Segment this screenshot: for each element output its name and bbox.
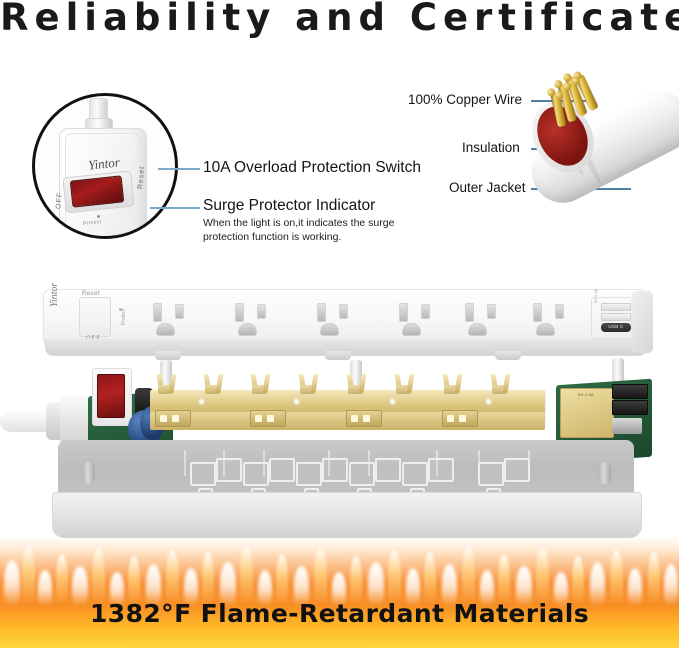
outlet-cavity: [375, 458, 401, 482]
transformer-label: 5V 2.4A: [562, 392, 610, 397]
clip-center: [492, 385, 507, 394]
outlet-cavity: [478, 462, 504, 486]
callout-overload-switch-label: 10A Overload Protection Switch: [203, 159, 421, 177]
terminal-opening: [363, 415, 370, 422]
outlet-cavity: [269, 458, 295, 482]
flame-tip: [536, 548, 549, 606]
busbar-contact-clip: [205, 374, 222, 394]
ac-outlet: [523, 303, 589, 337]
terminal-opening: [160, 415, 167, 422]
flame-tips-group: [0, 536, 679, 606]
outlet-ground-pin: [468, 323, 487, 336]
overload-switch-magnified: [70, 175, 125, 207]
usb-a-connector-internal: [612, 400, 648, 415]
leader-line-overload: [158, 168, 200, 170]
flame-banner-text: 1382°F Flame-Retardant Materials: [0, 599, 679, 628]
outlet-ground-pin: [536, 323, 555, 336]
busbar-contact-clip: [444, 374, 461, 394]
flame-tip: [610, 550, 623, 606]
clip-center: [396, 385, 411, 394]
ac-outlet: [225, 303, 291, 337]
flame-tip: [22, 546, 35, 606]
usb-rate-label: 5V 2.4A: [593, 289, 598, 303]
flame-banner: 1382°F Flame-Retardant Materials: [0, 536, 679, 648]
terminal-opening: [351, 415, 358, 422]
usb-a-port: [601, 313, 631, 321]
outlet-slot-right: [257, 304, 266, 319]
ac-outlet: [389, 303, 455, 337]
overload-switch-internal: [97, 374, 125, 418]
protect-indicator-led-magnified: [97, 215, 100, 218]
terminal-opening: [447, 415, 454, 422]
outlet-slot-left: [533, 303, 542, 322]
usb-a-port: [601, 303, 631, 311]
terminal-opening: [459, 415, 466, 422]
outlet-cavity: [190, 462, 216, 486]
busbar-contact-clip: [348, 374, 365, 394]
outlet-ground-pin: [156, 323, 175, 336]
busbar-contact-clip: [492, 374, 509, 394]
busbar-rivet-hole: [485, 398, 492, 405]
leader-line-surge: [150, 207, 200, 209]
ac-outlet: [307, 303, 373, 337]
strip-brand-logo: Yintor: [49, 283, 60, 307]
callout-surge-indicator-description: When the light is on,it indicates the su…: [203, 216, 413, 244]
strip-foot: [325, 351, 351, 360]
outlet-slot-left: [465, 303, 474, 322]
outlet-ground-pin: [238, 323, 257, 336]
outlet-cavity: [243, 462, 269, 486]
usb-c-connector-internal: [612, 418, 642, 434]
terminal-opening: [255, 415, 262, 422]
strip-foot: [155, 351, 181, 360]
clip-center: [205, 385, 220, 394]
flame-tip: [424, 552, 436, 606]
strip-protect-label: Protect: [121, 309, 127, 325]
screw-boss: [82, 462, 95, 484]
infographic-page: Reliability and Certificate Yintor OFF R…: [0, 0, 679, 648]
busbar-contact-clip: [252, 374, 269, 394]
usb-c-label: USB C: [603, 324, 629, 329]
cord-connector: [60, 396, 90, 444]
magnifier-content: Yintor OFF Reset Protect: [35, 96, 175, 236]
outlet-ground-pin: [320, 323, 339, 336]
terminal-opening: [172, 415, 179, 422]
busbar-terminal-block: [250, 410, 286, 427]
flame-tip: [240, 546, 253, 606]
housing-front-face: [52, 492, 642, 538]
flame-tip: [314, 548, 327, 606]
outlet-cavity: [296, 462, 322, 486]
flame-tip: [388, 550, 401, 606]
outlet-cavity: [428, 458, 454, 482]
flame-tip: [92, 548, 105, 606]
outlet-slot-right: [339, 304, 348, 319]
divider-rib: [184, 450, 186, 476]
outlet-slot-left: [317, 303, 326, 322]
screw-boss: [598, 462, 611, 484]
magnifier-circle: Yintor OFF Reset Protect: [32, 93, 178, 239]
outlet-cavity: [322, 458, 348, 482]
callout-surge-indicator-label: Surge Protector Indicator: [203, 197, 375, 215]
busbar-contact-clip: [158, 374, 175, 394]
switch-off-label-magnified: OFF: [55, 192, 63, 210]
outlet-cavity: [216, 458, 242, 482]
busbar-terminal-block: [346, 410, 382, 427]
busbar-contact-clip: [300, 374, 317, 394]
ac-outlet: [455, 303, 521, 337]
strip-reset-label: Reset: [82, 291, 100, 297]
ac-outlet: [143, 303, 209, 337]
busbar-rivet-hole: [293, 398, 300, 405]
outlet-ground-pin: [402, 323, 421, 336]
power-strip-top-view: Yintor Reset OFF Protect: [35, 289, 655, 361]
flame-tip: [202, 552, 214, 606]
outlet-slot-right: [421, 304, 430, 319]
clip-center: [348, 385, 363, 394]
outlet-slot-left: [399, 303, 408, 322]
busbar-terminal-block: [155, 410, 191, 427]
terminal-opening: [267, 415, 274, 422]
clip-center: [444, 385, 459, 394]
strip-power-switch: [79, 297, 111, 337]
busbar-contact-clip: [396, 374, 413, 394]
busbar-rivet-hole: [198, 398, 205, 405]
outlet-slot-right: [175, 304, 184, 319]
clip-center: [158, 385, 173, 394]
outlet-slot-right: [487, 304, 496, 319]
bottom-housing-shell: [58, 440, 634, 538]
flame-tip: [462, 546, 475, 606]
clip-center: [252, 385, 267, 394]
cable-cross-section-image: [492, 72, 679, 212]
busbar-terminal-block: [442, 410, 478, 427]
usb-a-connector-internal: [612, 384, 648, 399]
outlet-slot-left: [153, 303, 162, 322]
outlet-cavity: [349, 462, 375, 486]
busbar-rivet-hole: [389, 398, 396, 405]
clip-center: [300, 385, 315, 394]
flame-tip: [166, 550, 179, 606]
outlet-cavity: [504, 458, 530, 482]
outlet-cavity: [402, 462, 428, 486]
outlet-slot-left: [235, 303, 244, 322]
flame-tip: [648, 552, 660, 606]
outlet-slot-right: [555, 304, 564, 319]
page-title: Reliability and Certificate: [0, 0, 679, 39]
strip-end-cap: [631, 291, 653, 353]
strip-foot: [495, 351, 521, 360]
